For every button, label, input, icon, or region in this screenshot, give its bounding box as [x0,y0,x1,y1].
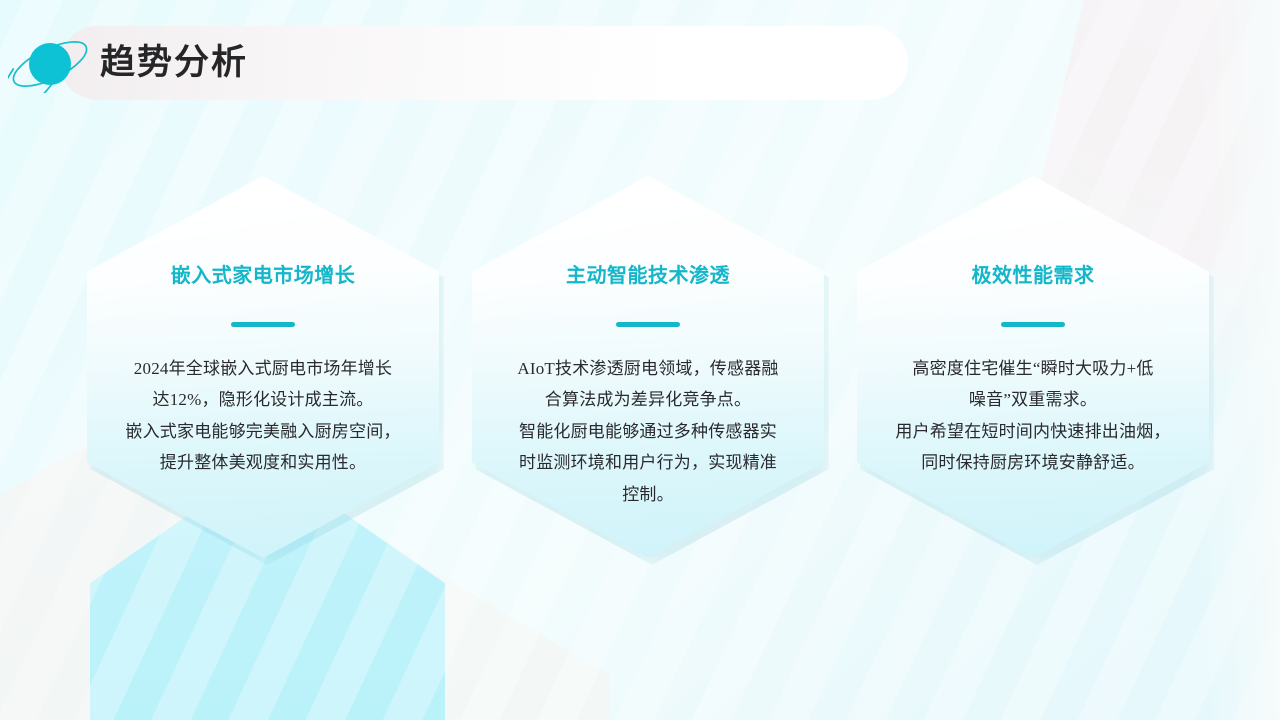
card-body-text: 2024年全球嵌入式厨电市场年增长 达12%，隐形化设计成主流。 嵌入式家电能够… [103,353,423,479]
trend-card-group: 嵌入式家电市场增长 2024年全球嵌入式厨电市场年增长 达12%，隐形化设计成主… [0,0,1280,720]
trend-card[interactable]: 主动智能技术渗透 AIoT技术渗透厨电领域，传感器融 合算法成为差异化竞争点。 … [472,176,824,558]
card-content: 极效性能需求 高密度住宅催生“瞬时大吸力+低 噪音”双重需求。 用户希望在短时间… [873,264,1193,479]
card-content: 主动智能技术渗透 AIoT技术渗透厨电领域，传感器融 合算法成为差异化竞争点。 … [488,264,808,510]
card-divider [616,322,680,327]
trend-card[interactable]: 极效性能需求 高密度住宅催生“瞬时大吸力+低 噪音”双重需求。 用户希望在短时间… [857,176,1209,558]
card-divider [1001,322,1065,327]
card-title: 嵌入式家电市场增长 [103,264,423,288]
slide-canvas: 趋势分析 嵌入式家电市场增长 2024年全球嵌入式厨电市场年增长 达12%，隐形… [0,0,1280,720]
card-content: 嵌入式家电市场增长 2024年全球嵌入式厨电市场年增长 达12%，隐形化设计成主… [103,264,423,479]
trend-card[interactable]: 嵌入式家电市场增长 2024年全球嵌入式厨电市场年增长 达12%，隐形化设计成主… [87,176,439,558]
card-divider [231,322,295,327]
card-title: 主动智能技术渗透 [488,264,808,288]
card-body-text: 高密度住宅催生“瞬时大吸力+低 噪音”双重需求。 用户希望在短时间内快速排出油烟… [873,353,1193,479]
card-title: 极效性能需求 [873,264,1193,288]
card-body-text: AIoT技术渗透厨电领域，传感器融 合算法成为差异化竞争点。 智能化厨电能够通过… [488,353,808,510]
